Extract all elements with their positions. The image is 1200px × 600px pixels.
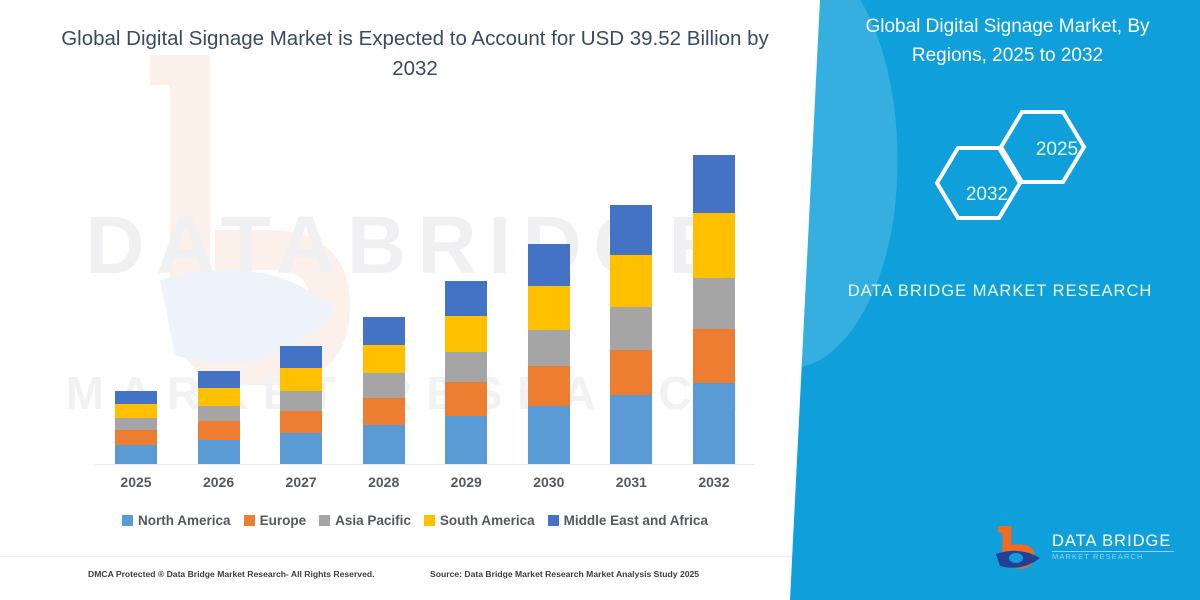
bar-group [95,140,755,465]
stacked-bar-2025 [115,391,157,465]
bar-segment [280,391,322,410]
legend-swatch-icon [319,515,330,526]
bar-segment [610,205,652,255]
legend-swatch-icon [424,515,435,526]
bar-segment [363,425,405,465]
bar-segment [115,418,157,430]
x-axis-label-2025: 2025 [95,474,177,490]
bar-segment [528,406,570,465]
bar-segment [445,416,487,466]
legend-label: South America [440,513,535,528]
bar-segment [280,433,322,465]
bar-segment [363,345,405,374]
stacked-bar-chart [95,140,755,465]
bar-segment [610,255,652,307]
logo-b-mark-icon [990,526,1048,578]
legend-item[interactable]: Middle East and Africa [548,513,708,528]
x-axis-tick-labels: 20252026202720282029203020312032 [95,474,755,490]
logo-divider [1052,551,1174,552]
bar-column [343,140,425,465]
chart-legend: North AmericaEuropeAsia PacificSouth Ame… [60,513,770,528]
bar-column [95,140,177,465]
page-title: Global Digital Signage Market is Expecte… [60,24,770,84]
bar-segment [363,317,405,345]
stacked-bar-2029 [445,281,487,465]
legend-label: Middle East and Africa [564,513,708,528]
hexagon-label-left: 2032 [952,184,1022,206]
bar-segment [280,411,322,434]
data-bridge-logo: DATA BRIDGE MARKET RESEARCH [990,526,1180,578]
chart-panel: DATABRIDGE MARKET RESEARCH Global Digita… [0,0,820,600]
legend-swatch-icon [548,515,559,526]
stacked-bar-2026 [198,371,240,465]
x-axis-label-2027: 2027 [260,474,342,490]
legend-item[interactable]: Europe [244,513,307,528]
x-axis-label-2029: 2029 [425,474,507,490]
bar-segment [693,383,735,465]
infographic-canvas: DATABRIDGE MARKET RESEARCH Global Digita… [0,0,1200,600]
bar-segment [610,350,652,396]
bar-column [508,140,590,465]
bar-column [178,140,260,465]
bar-segment [610,307,652,350]
stacked-bar-2027 [280,346,322,465]
bar-segment [528,286,570,330]
legend-label: North America [138,513,231,528]
bar-segment [198,421,240,440]
x-axis-line [95,464,755,465]
stacked-bar-2031 [610,205,652,465]
bar-segment [610,395,652,465]
bar-column [590,140,672,465]
legend-swatch-icon [244,515,255,526]
bar-segment [115,430,157,445]
stacked-bar-2030 [528,244,570,465]
x-axis-label-2032: 2032 [673,474,755,490]
x-axis-label-2030: 2030 [508,474,590,490]
footer-divider [0,556,820,557]
bar-segment [445,382,487,416]
bar-segment [528,366,570,405]
bar-segment [363,398,405,426]
bar-segment [280,368,322,391]
legend-item[interactable]: Asia Pacific [319,513,411,528]
logo-title: DATA BRIDGE [1052,532,1180,551]
bar-column [260,140,342,465]
bar-segment [528,330,570,367]
bar-column [673,140,755,465]
bar-segment [693,329,735,383]
legend-label: Europe [260,513,307,528]
x-axis-label-2026: 2026 [178,474,260,490]
bar-segment [115,391,157,405]
logo-wordmark: DATA BRIDGE MARKET RESEARCH [1052,532,1180,562]
bar-segment [198,371,240,389]
legend-label: Asia Pacific [335,513,411,528]
bar-segment [693,278,735,329]
bar-segment [115,404,157,418]
legend-item[interactable]: North America [122,513,231,528]
bar-column [425,140,507,465]
bar-segment [280,346,322,368]
logo-subtitle: MARKET RESEARCH [1052,551,1180,562]
bar-segment [115,445,157,465]
bar-segment [445,316,487,352]
source-notice: Source: Data Bridge Market Research Mark… [430,569,699,579]
legend-item[interactable]: South America [424,513,535,528]
hexagon-labels: 2025 2032 [930,108,1130,223]
bar-segment [693,155,735,213]
copyright-notice: DMCA Protected ® Data Bridge Market Rese… [88,569,375,579]
legend-swatch-icon [122,515,133,526]
brand-name: DATA BRIDGE MARKET RESEARCH [830,278,1170,304]
bar-segment [445,352,487,382]
stacked-bar-2032 [693,155,735,465]
bar-segment [693,213,735,278]
hexagon-label-right: 2025 [1022,139,1092,161]
stacked-bar-2028 [363,316,405,465]
bar-segment [198,406,240,421]
bar-segment [363,373,405,397]
bar-segment [528,244,570,286]
x-axis-label-2031: 2031 [590,474,672,490]
bar-segment [198,440,240,465]
bar-segment [445,281,487,316]
panel-title: Global Digital Signage Market, By Region… [835,12,1180,70]
x-axis-label-2028: 2028 [343,474,425,490]
bar-segment [198,388,240,406]
